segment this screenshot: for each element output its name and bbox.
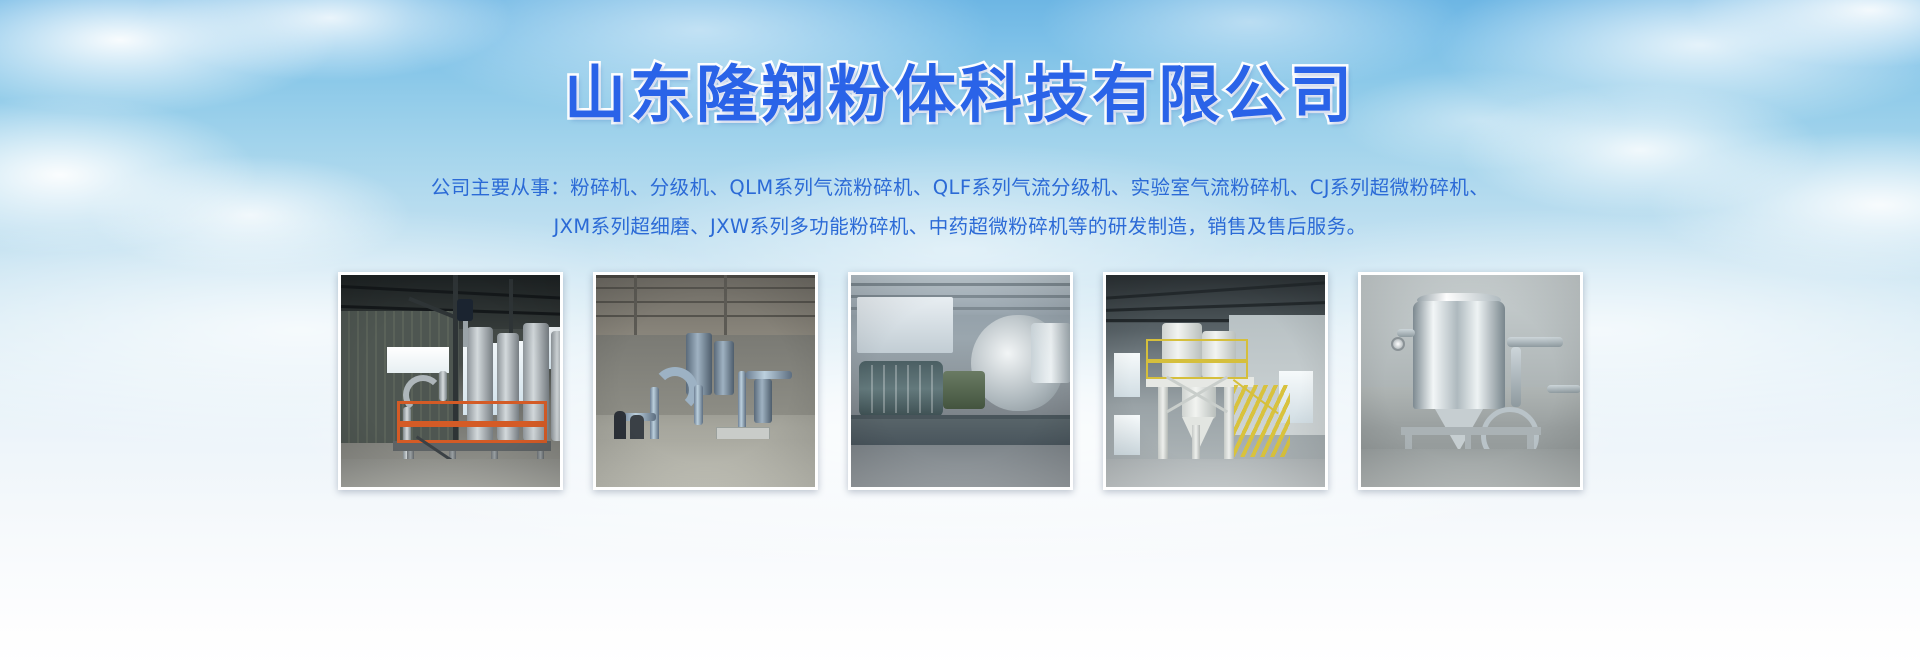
company-title: 山东隆翔粉体科技有限公司 <box>564 58 1356 132</box>
hero-banner: 山东隆翔粉体科技有限公司 公司主要从事：粉碎机、分级机、QLM系列气流粉碎机、Q… <box>0 0 1920 667</box>
photo-motor-blower[interactable] <box>848 272 1073 490</box>
subtitle-line-2: JXM系列超细磨、JXW系列多功能粉碎机、中药超微粉碎机等的研发制造，销售及售后… <box>0 207 1920 246</box>
title-block: 山东隆翔粉体科技有限公司 <box>0 58 1920 132</box>
product-photo-strip <box>0 272 1920 490</box>
subtitle-block: 公司主要从事：粉碎机、分级机、QLM系列气流粉碎机、QLF系列气流分级机、实验室… <box>0 168 1920 246</box>
photo-workshop-pipes[interactable] <box>593 272 818 490</box>
photo-classifier-tower[interactable] <box>1103 272 1328 490</box>
photo-jet-mill-line[interactable] <box>338 272 563 490</box>
photo-stainless-dryer[interactable] <box>1358 272 1583 490</box>
subtitle-line-1: 公司主要从事：粉碎机、分级机、QLM系列气流粉碎机、QLF系列气流分级机、实验室… <box>0 168 1920 207</box>
